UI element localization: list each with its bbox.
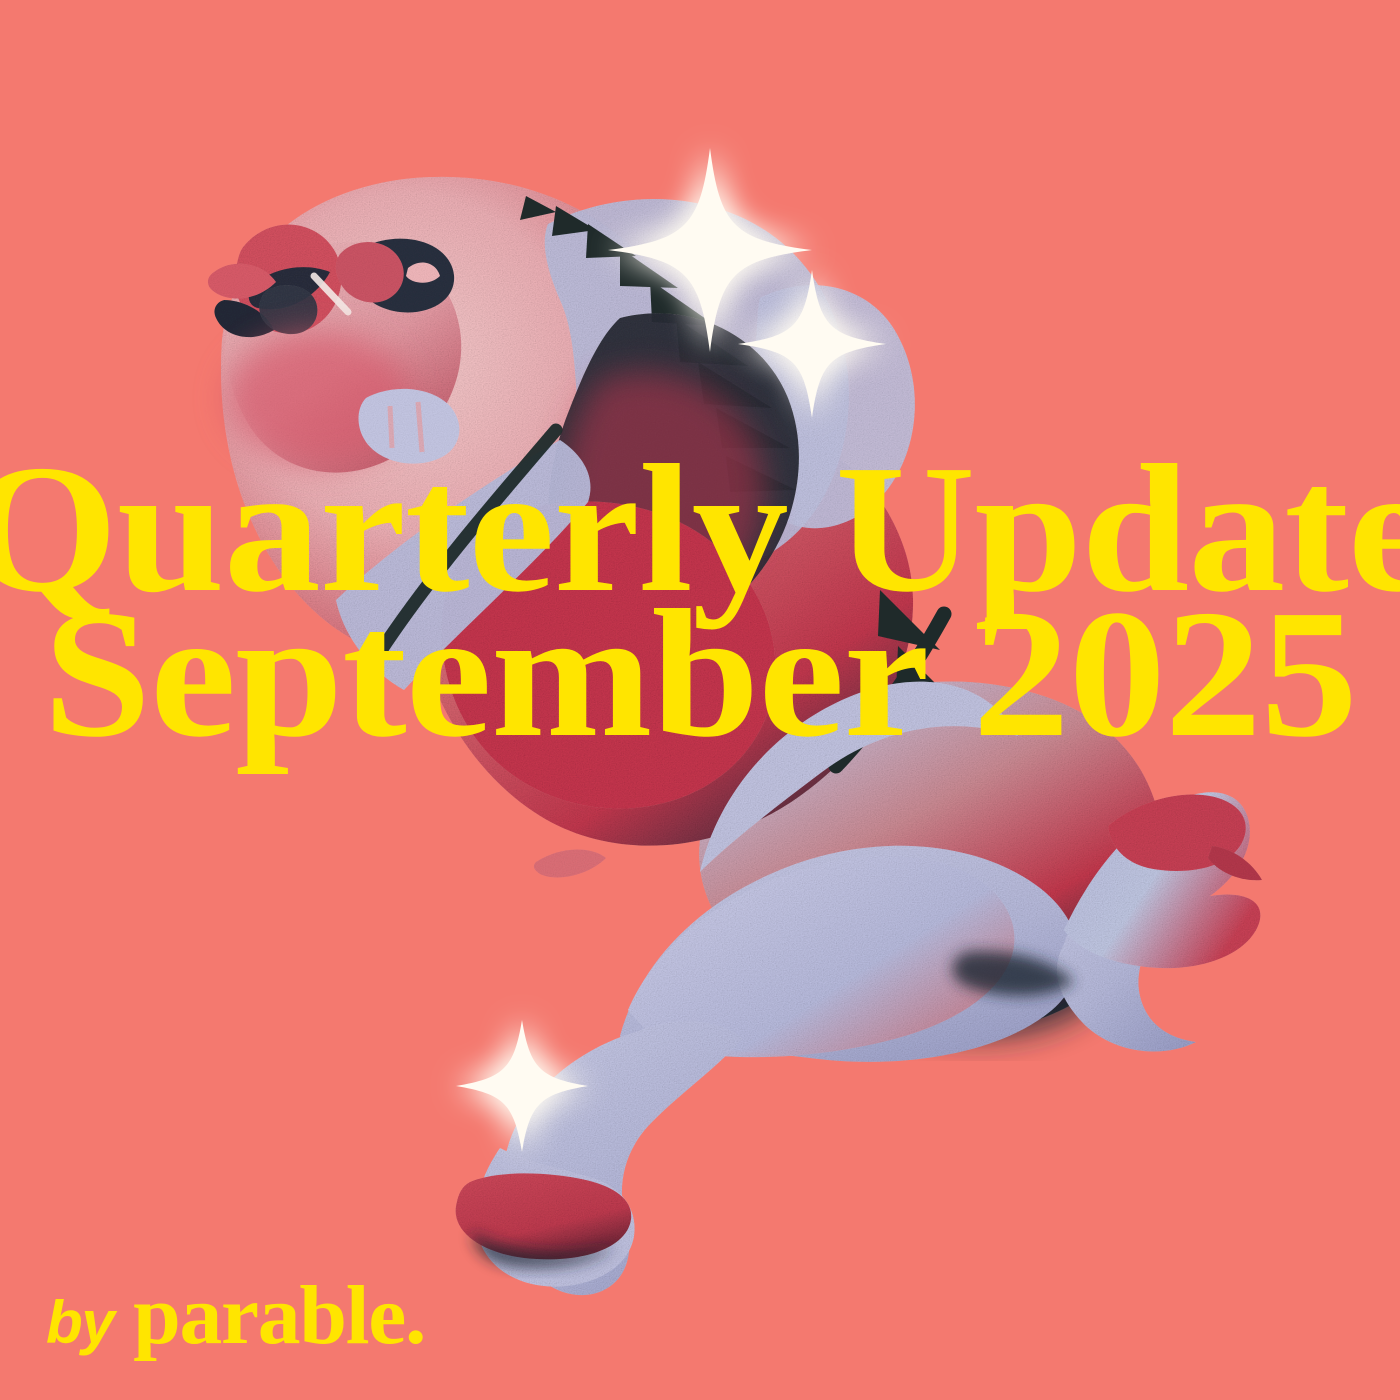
logo-parable-wordmark: parable.: [133, 1274, 425, 1358]
brand-logo: by parable.: [46, 1274, 422, 1358]
floating-speck: [534, 849, 606, 877]
illustration-layer: [0, 0, 1400, 1400]
podcast-cover-art: Quarterly Update September 2025 by parab…: [0, 0, 1400, 1400]
logo-by-label: by: [46, 1293, 114, 1353]
horse-illustration: [0, 0, 1400, 1400]
